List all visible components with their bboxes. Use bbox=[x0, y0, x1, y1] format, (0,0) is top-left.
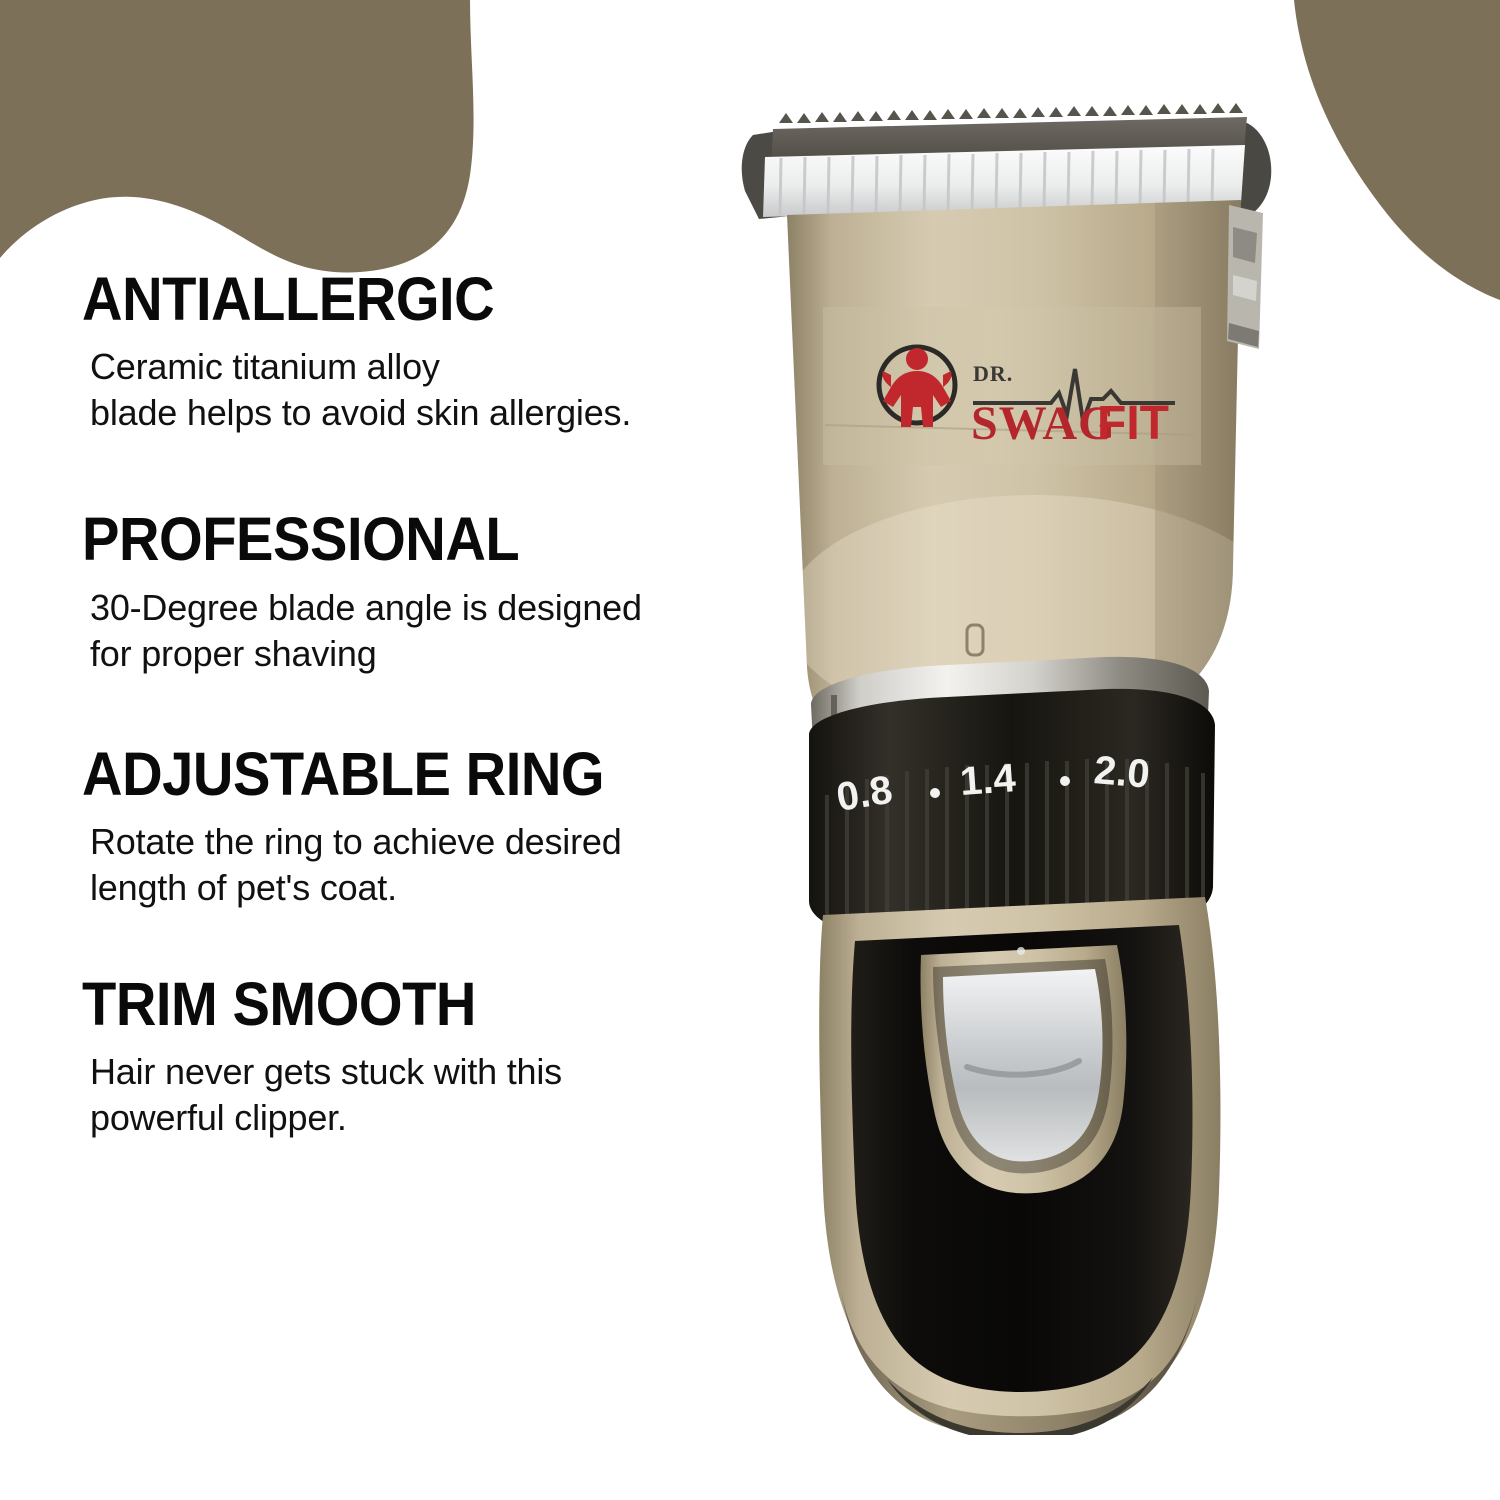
power-indicator-led bbox=[1017, 947, 1025, 955]
side-metal-clip bbox=[1227, 205, 1263, 349]
ring-marking-dot bbox=[1060, 776, 1070, 786]
feature-adjustable-ring: ADJUSTABLE RING Rotate the ring to achie… bbox=[82, 743, 842, 911]
ring-marking-dot bbox=[930, 788, 940, 798]
ring-marking-value: 1.4 bbox=[959, 756, 1018, 804]
logo-swag-text: SWAG bbox=[971, 397, 1116, 450]
olive-blob-top-right bbox=[1294, 0, 1500, 300]
feature-description: Ceramic titanium alloy blade helps to av… bbox=[90, 344, 842, 436]
clipper-illustration: DR. SWAG FIT bbox=[735, 95, 1295, 1435]
feature-list: ANTIALLERGIC Ceramic titanium alloy blad… bbox=[82, 268, 842, 1142]
feature-description: Rotate the ring to achieve desired lengt… bbox=[90, 819, 842, 911]
feature-description: 30-Degree blade angle is designed for pr… bbox=[90, 585, 842, 677]
feature-antiallergic: ANTIALLERGIC Ceramic titanium alloy blad… bbox=[82, 268, 842, 436]
feature-description-line: powerful clipper. bbox=[90, 1095, 842, 1141]
feature-title: TRIM SMOOTH bbox=[82, 973, 781, 1035]
feature-title: ADJUSTABLE RING bbox=[82, 743, 781, 805]
feature-description-line: Rotate the ring to achieve desired bbox=[90, 819, 842, 865]
feature-title: PROFESSIONAL bbox=[82, 508, 781, 570]
logo-fit-text: FIT bbox=[1097, 397, 1169, 450]
product-image-clipper: DR. SWAG FIT bbox=[735, 95, 1295, 1435]
feature-trim-smooth: TRIM SMOOTH Hair never gets stuck with t… bbox=[82, 973, 842, 1141]
olive-blob-top-left bbox=[0, 0, 474, 272]
infographic-page: ANTIALLERGIC Ceramic titanium alloy blad… bbox=[0, 0, 1500, 1500]
feature-professional: PROFESSIONAL 30-Degree blade angle is de… bbox=[82, 508, 842, 676]
feature-description-line: 30-Degree blade angle is designed bbox=[90, 585, 842, 631]
feature-description-line: length of pet's coat. bbox=[90, 865, 842, 911]
logo-dr-text: DR. bbox=[973, 361, 1013, 386]
ring-marking-value: 2.0 bbox=[1092, 748, 1151, 797]
feature-description-line: Ceramic titanium alloy bbox=[90, 344, 842, 390]
ring-marking-value: 0.8 bbox=[834, 768, 896, 820]
feature-description-line: blade helps to avoid skin allergies. bbox=[90, 390, 842, 436]
feature-title: ANTIALLERGIC bbox=[82, 268, 781, 330]
feature-description-line: Hair never gets stuck with this bbox=[90, 1049, 842, 1095]
feature-description-line: for proper shaving bbox=[90, 631, 842, 677]
feature-description: Hair never gets stuck with this powerful… bbox=[90, 1049, 842, 1141]
